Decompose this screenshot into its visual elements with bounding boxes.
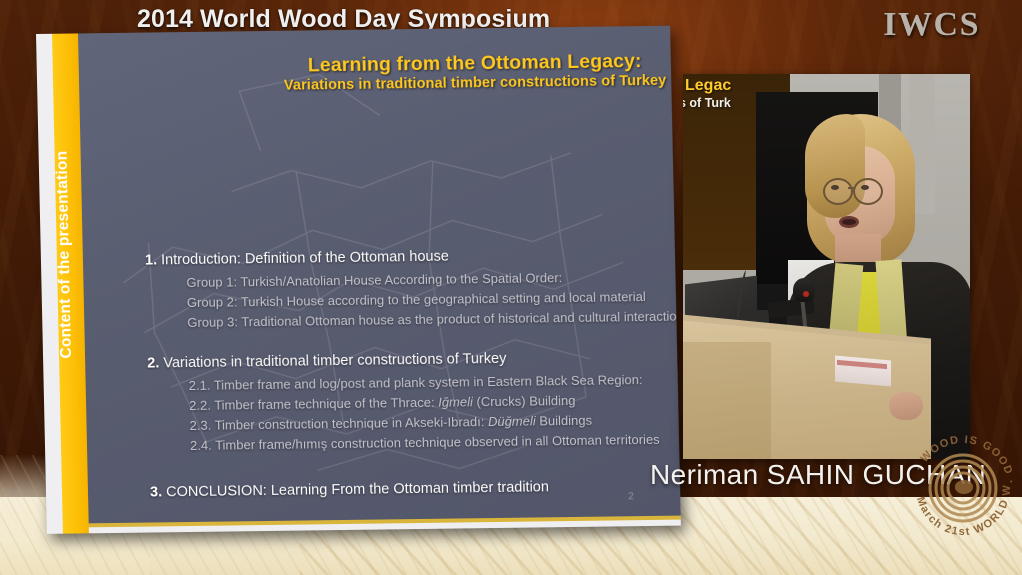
slide-content-list: 1. Introduction: Definition of the Ottom… [145,242,681,506]
photo-projected-subtitle: s of Turk [683,96,731,110]
slide-page-number: 2 [628,491,634,502]
photo-eyeglass-left [823,178,853,205]
presentation-slide: Learning from the Ottoman Legacy: Variat… [36,26,681,534]
photo-hand [889,392,923,420]
section-3-title: CONCLUSION: Learning From the Ottoman ti… [166,479,549,500]
photo-eye-right [861,185,869,190]
screenshot-root: 2014 World Wood Day Symposium IWCS [0,0,1022,575]
iwcs-logo: IWCS [883,6,980,44]
photo-eyeglass-right [853,178,883,205]
photo-eyeglass-bridge [848,187,855,189]
photo-microphone-indicator [803,291,809,297]
section-3-number: 3. [150,484,162,500]
photo-projected-title: Legac [685,77,731,95]
section-2-number: 2. [147,355,159,371]
slide-title: Learning from the Ottoman Legacy: Variat… [279,50,672,95]
section-1-title: Introduction: Definition of the Ottoman … [161,249,449,269]
section-1-number: 1. [145,252,157,268]
photo-podium-side [683,342,771,459]
speaker-photo: Legac s of Turk [683,74,970,459]
photo-eye-left [831,185,839,190]
photo-microphone-head [793,278,815,302]
world-wood-day-emblem: · WOOD IS GOOD · March 21st WORLD WOOD D… [902,427,1022,549]
section-2-title: Variations in traditional timber constru… [163,351,506,371]
slide-body: Learning from the Ottoman Legacy: Variat… [78,26,681,524]
photo-mouth-inner [842,219,856,225]
